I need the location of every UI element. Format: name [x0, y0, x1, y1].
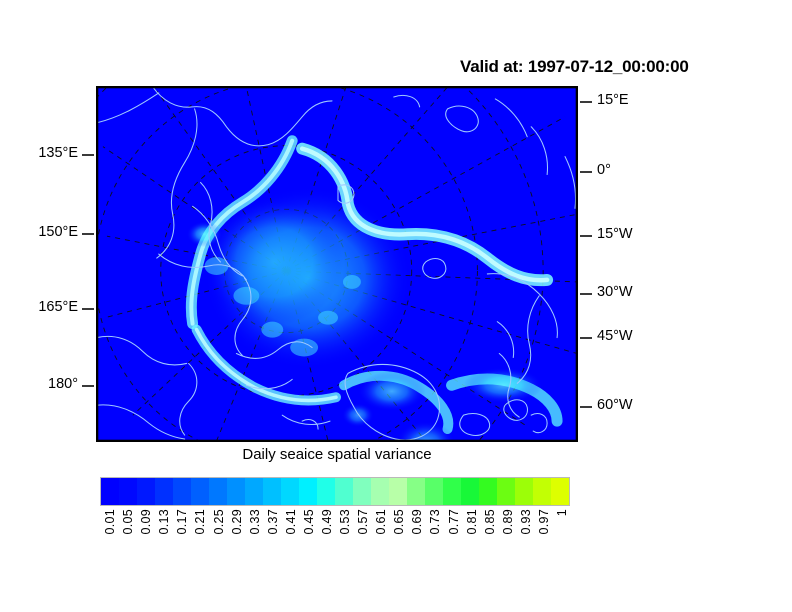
colorbar-tick-label-22: 0.89: [501, 509, 515, 535]
axis-tick-right-5: [580, 406, 592, 408]
colorbar-band-22: [497, 478, 515, 505]
colorbar-tick-label-24: 0.97: [537, 509, 551, 535]
colorbar-band-4: [173, 478, 191, 505]
axis-tick-left-0: [82, 154, 94, 156]
colorbar-band-7: [227, 478, 245, 505]
axis-tick-right-1: [580, 171, 592, 173]
colorbar-tick-label-5: 0.21: [193, 509, 207, 535]
axis-tick-left-1: [82, 233, 94, 235]
axis-label-left-0: 135°E: [38, 145, 78, 161]
axis-label-right-2: 15°W: [597, 226, 633, 242]
colorbar-gradient: [100, 477, 570, 506]
axis-tick-right-0: [580, 101, 592, 103]
colorbar-tick-label-12: 0.49: [320, 509, 334, 535]
colorbar-band-15: [371, 478, 389, 505]
colorbar-tick-label-23: 0.93: [519, 509, 533, 535]
axis-label-left-1: 150°E: [38, 224, 78, 240]
colorbar-band-8: [245, 478, 263, 505]
colorbar-tick-label-1: 0.05: [121, 509, 135, 535]
map-panel: [96, 86, 578, 442]
map-svg: [97, 87, 577, 441]
axis-label-right-3: 30°W: [597, 284, 633, 300]
colorbar-tick-label-17: 0.69: [410, 509, 424, 535]
colorbar-tick-label-21: 0.85: [483, 509, 497, 535]
valid-time-title: Valid at: 1997-07-12_00:00:00: [460, 57, 770, 77]
axis-label-right-0: 15°E: [597, 92, 629, 108]
colorbar-tick-label-6: 0.25: [212, 509, 226, 535]
axis-label-right-4: 45°W: [597, 328, 633, 344]
axis-tick-left-3: [82, 385, 94, 387]
colorbar-tick-label-8: 0.33: [248, 509, 262, 535]
axis-tick-left-2: [82, 308, 94, 310]
colorbar-band-3: [155, 478, 173, 505]
colorbar-band-2: [137, 478, 155, 505]
colorbar-band-11: [299, 478, 317, 505]
colorbar-band-1: [119, 478, 137, 505]
colorbar-tick-label-16: 0.65: [392, 509, 406, 535]
colorbar-band-21: [479, 478, 497, 505]
colorbar: [100, 477, 570, 506]
colorbar-band-25: [551, 478, 569, 505]
colorbar-band-13: [335, 478, 353, 505]
colorbar-band-5: [191, 478, 209, 505]
colorbar-tick-label-9: 0.37: [266, 509, 280, 535]
axis-label-left-2: 165°E: [38, 299, 78, 315]
colorbar-tick-label-11: 0.45: [302, 509, 316, 535]
map-caption: Daily seaice spatial variance: [96, 446, 578, 463]
axis-label-right-1: 0°: [597, 162, 611, 178]
colorbar-band-17: [407, 478, 425, 505]
colorbar-tick-label-3: 0.13: [157, 509, 171, 535]
colorbar-band-10: [281, 478, 299, 505]
axis-label-right-5: 60°W: [597, 397, 633, 413]
colorbar-band-9: [263, 478, 281, 505]
colorbar-band-19: [443, 478, 461, 505]
colorbar-band-6: [209, 478, 227, 505]
colorbar-tick-label-18: 0.73: [428, 509, 442, 535]
colorbar-band-20: [461, 478, 479, 505]
colorbar-band-12: [317, 478, 335, 505]
colorbar-tick-label-19: 0.77: [447, 509, 461, 535]
colorbar-tick-label-20: 0.81: [465, 509, 479, 535]
colorbar-tick-label-4: 0.17: [175, 509, 189, 535]
colorbar-band-24: [533, 478, 551, 505]
colorbar-tick-label-15: 0.61: [374, 509, 388, 535]
colorbar-tick-labels: 0.010.050.090.130.170.210.250.290.330.37…: [100, 509, 570, 589]
axis-label-left-3: 180°: [48, 376, 78, 392]
colorbar-band-16: [389, 478, 407, 505]
colorbar-tick-label-25: 1: [555, 509, 569, 516]
figure-canvas: Valid at: 1997-07-12_00:00:00: [0, 0, 792, 612]
colorbar-tick-label-10: 0.41: [284, 509, 298, 535]
colorbar-tick-label-14: 0.57: [356, 509, 370, 535]
colorbar-tick-label-7: 0.29: [230, 509, 244, 535]
axis-tick-right-2: [580, 235, 592, 237]
colorbar-band-0: [101, 478, 119, 505]
colorbar-tick-label-2: 0.09: [139, 509, 153, 535]
axis-tick-right-4: [580, 337, 592, 339]
colorbar-tick-label-13: 0.53: [338, 509, 352, 535]
colorbar-band-18: [425, 478, 443, 505]
axis-tick-right-3: [580, 293, 592, 295]
colorbar-band-23: [515, 478, 533, 505]
colorbar-band-14: [353, 478, 371, 505]
colorbar-tick-label-0: 0.01: [103, 509, 117, 535]
